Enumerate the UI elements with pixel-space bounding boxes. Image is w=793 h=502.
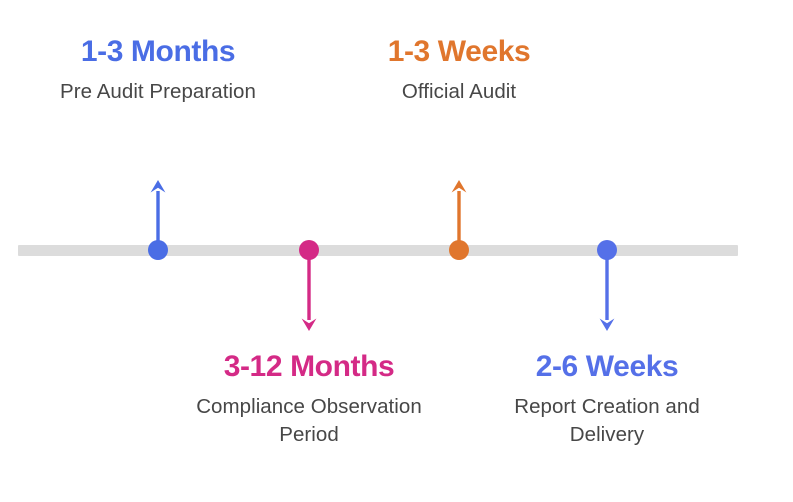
timeline-axis-bar [18, 245, 738, 256]
phase-description-report-creation-and-delivery: Report Creation and Delivery [481, 393, 733, 448]
phase-label-compliance-observation-period[interactable]: 3-12 Months Compliance Observation Perio… [161, 349, 457, 448]
arrow-head-up-icon-pre-audit-preparation [151, 180, 166, 193]
timeline-node-report-creation-and-delivery[interactable] [597, 240, 617, 260]
arrow-head-up-icon-official-audit [452, 180, 467, 193]
phase-description-official-audit: Official Audit [311, 78, 607, 105]
phase-duration-official-audit: 1-3 Weeks [311, 34, 607, 69]
timeline-node-compliance-observation-period[interactable] [299, 240, 319, 260]
phase-description-compliance-observation-period: Compliance Observation Period [184, 393, 434, 448]
timeline-node-official-audit[interactable] [449, 240, 469, 260]
phase-duration-report-creation-and-delivery: 2-6 Weeks [459, 349, 755, 384]
arrow-head-down-icon-report-creation-and-delivery [600, 319, 615, 332]
phase-label-report-creation-and-delivery[interactable]: 2-6 Weeks Report Creation and Delivery [459, 349, 755, 448]
arrow-head-down-icon-compliance-observation-period [302, 319, 317, 332]
phase-duration-pre-audit-preparation: 1-3 Months [10, 34, 306, 69]
timeline-diagram: 1-3 Months Pre Audit Preparation 1-3 Wee… [0, 0, 793, 502]
phase-duration-compliance-observation-period: 3-12 Months [161, 349, 457, 384]
phase-label-official-audit[interactable]: 1-3 Weeks Official Audit [311, 34, 607, 106]
timeline-node-pre-audit-preparation[interactable] [148, 240, 168, 260]
phase-label-pre-audit-preparation[interactable]: 1-3 Months Pre Audit Preparation [10, 34, 306, 106]
phase-description-pre-audit-preparation: Pre Audit Preparation [10, 78, 306, 105]
